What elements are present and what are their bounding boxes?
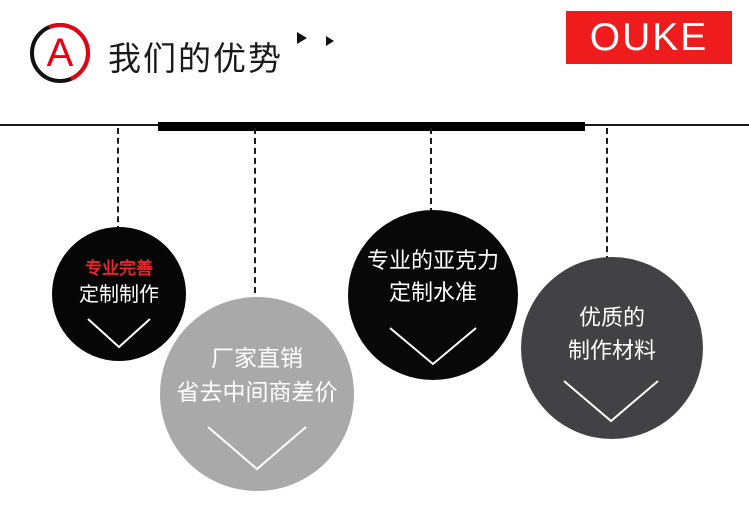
bubble-4-line-1: 优质的 [579,305,645,333]
bubble-3-line-2: 定制水准 [389,280,477,308]
chevron-down-icon-1 [86,317,152,351]
page-title: 我们的优势 [108,32,283,80]
play-triangle-icon-1 [297,32,307,44]
bubble-1-accent-line: 专业完善 [85,259,153,280]
chevron-down-icon-3 [388,326,478,368]
play-triangle-icon-2 [326,36,334,46]
chevron-down-icon-4 [562,379,660,425]
bubble-2-line-2: 省去中间商差价 [177,379,338,408]
bubble-2-line-1: 厂家直销 [211,345,303,374]
advantages-banner: A 我们的优势 OUKE 专业完善 定制制作 厂家直销 省去中间商差价 专业的亚… [0,0,749,506]
letter-a-badge-icon: A [30,23,96,89]
connector-dash-1 [117,128,119,232]
connector-dash-3 [430,128,432,214]
advantage-bubble-3: 专业的亚克力 定制水准 [348,210,518,380]
advantage-bubble-4: 优质的 制作材料 [521,257,703,439]
chevron-down-icon-2 [206,425,308,473]
bubble-1-line-1: 定制制作 [79,282,159,307]
connector-dash-4 [606,128,608,262]
bubble-4-line-2: 制作材料 [568,338,656,366]
brand-logo: OUKE [566,11,732,64]
advantage-bubble-1: 专业完善 定制制作 [52,227,186,361]
brand-logo-text: OUKE [590,18,709,57]
badge-letter: A [30,23,90,83]
advantage-bubble-2: 厂家直销 省去中间商差价 [160,297,354,491]
bubble-3-line-1: 专业的亚克力 [367,248,499,276]
connector-dash-2 [254,128,256,303]
horizontal-rail-highlight [158,122,585,131]
banner-header: A 我们的优势 OUKE [0,0,749,122]
